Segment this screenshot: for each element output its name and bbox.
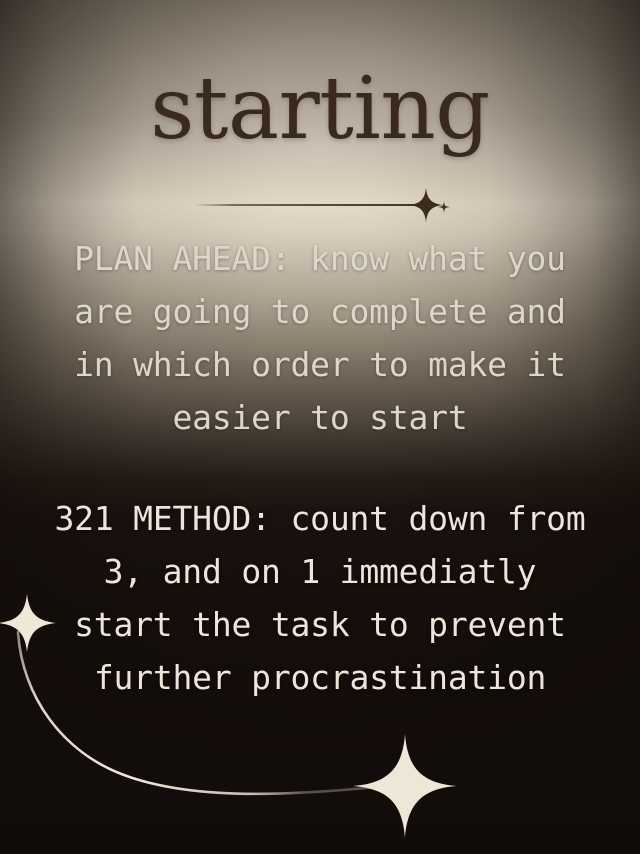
- tip-line: start the task to prevent: [0, 598, 640, 651]
- tip-line: are going to complete and: [0, 285, 640, 338]
- tip-line: PLAN AHEAD: know what you: [0, 232, 640, 285]
- tip-line: further procrastination: [0, 651, 640, 704]
- tip-line: 3, and on 1 immediatly: [0, 545, 640, 598]
- tip-line: 321 METHOD: count down from: [0, 492, 640, 545]
- poster-canvas: starting PLAN AHEAD: know what you are g…: [0, 0, 640, 854]
- divider: [0, 188, 640, 224]
- tip-line: easier to start: [0, 391, 640, 444]
- tip-plan-ahead: PLAN AHEAD: know what you are going to c…: [0, 232, 640, 444]
- tip-321-method: 321 METHOD: count down from 3, and on 1 …: [0, 492, 640, 704]
- tip-line: in which order to make it: [0, 338, 640, 391]
- small-plus-sparkle-icon: [438, 201, 451, 214]
- four-point-sparkle-icon: [0, 594, 56, 652]
- page-title: starting: [0, 66, 640, 152]
- four-point-sparkle-icon: [353, 734, 457, 838]
- divider-line: [196, 204, 422, 206]
